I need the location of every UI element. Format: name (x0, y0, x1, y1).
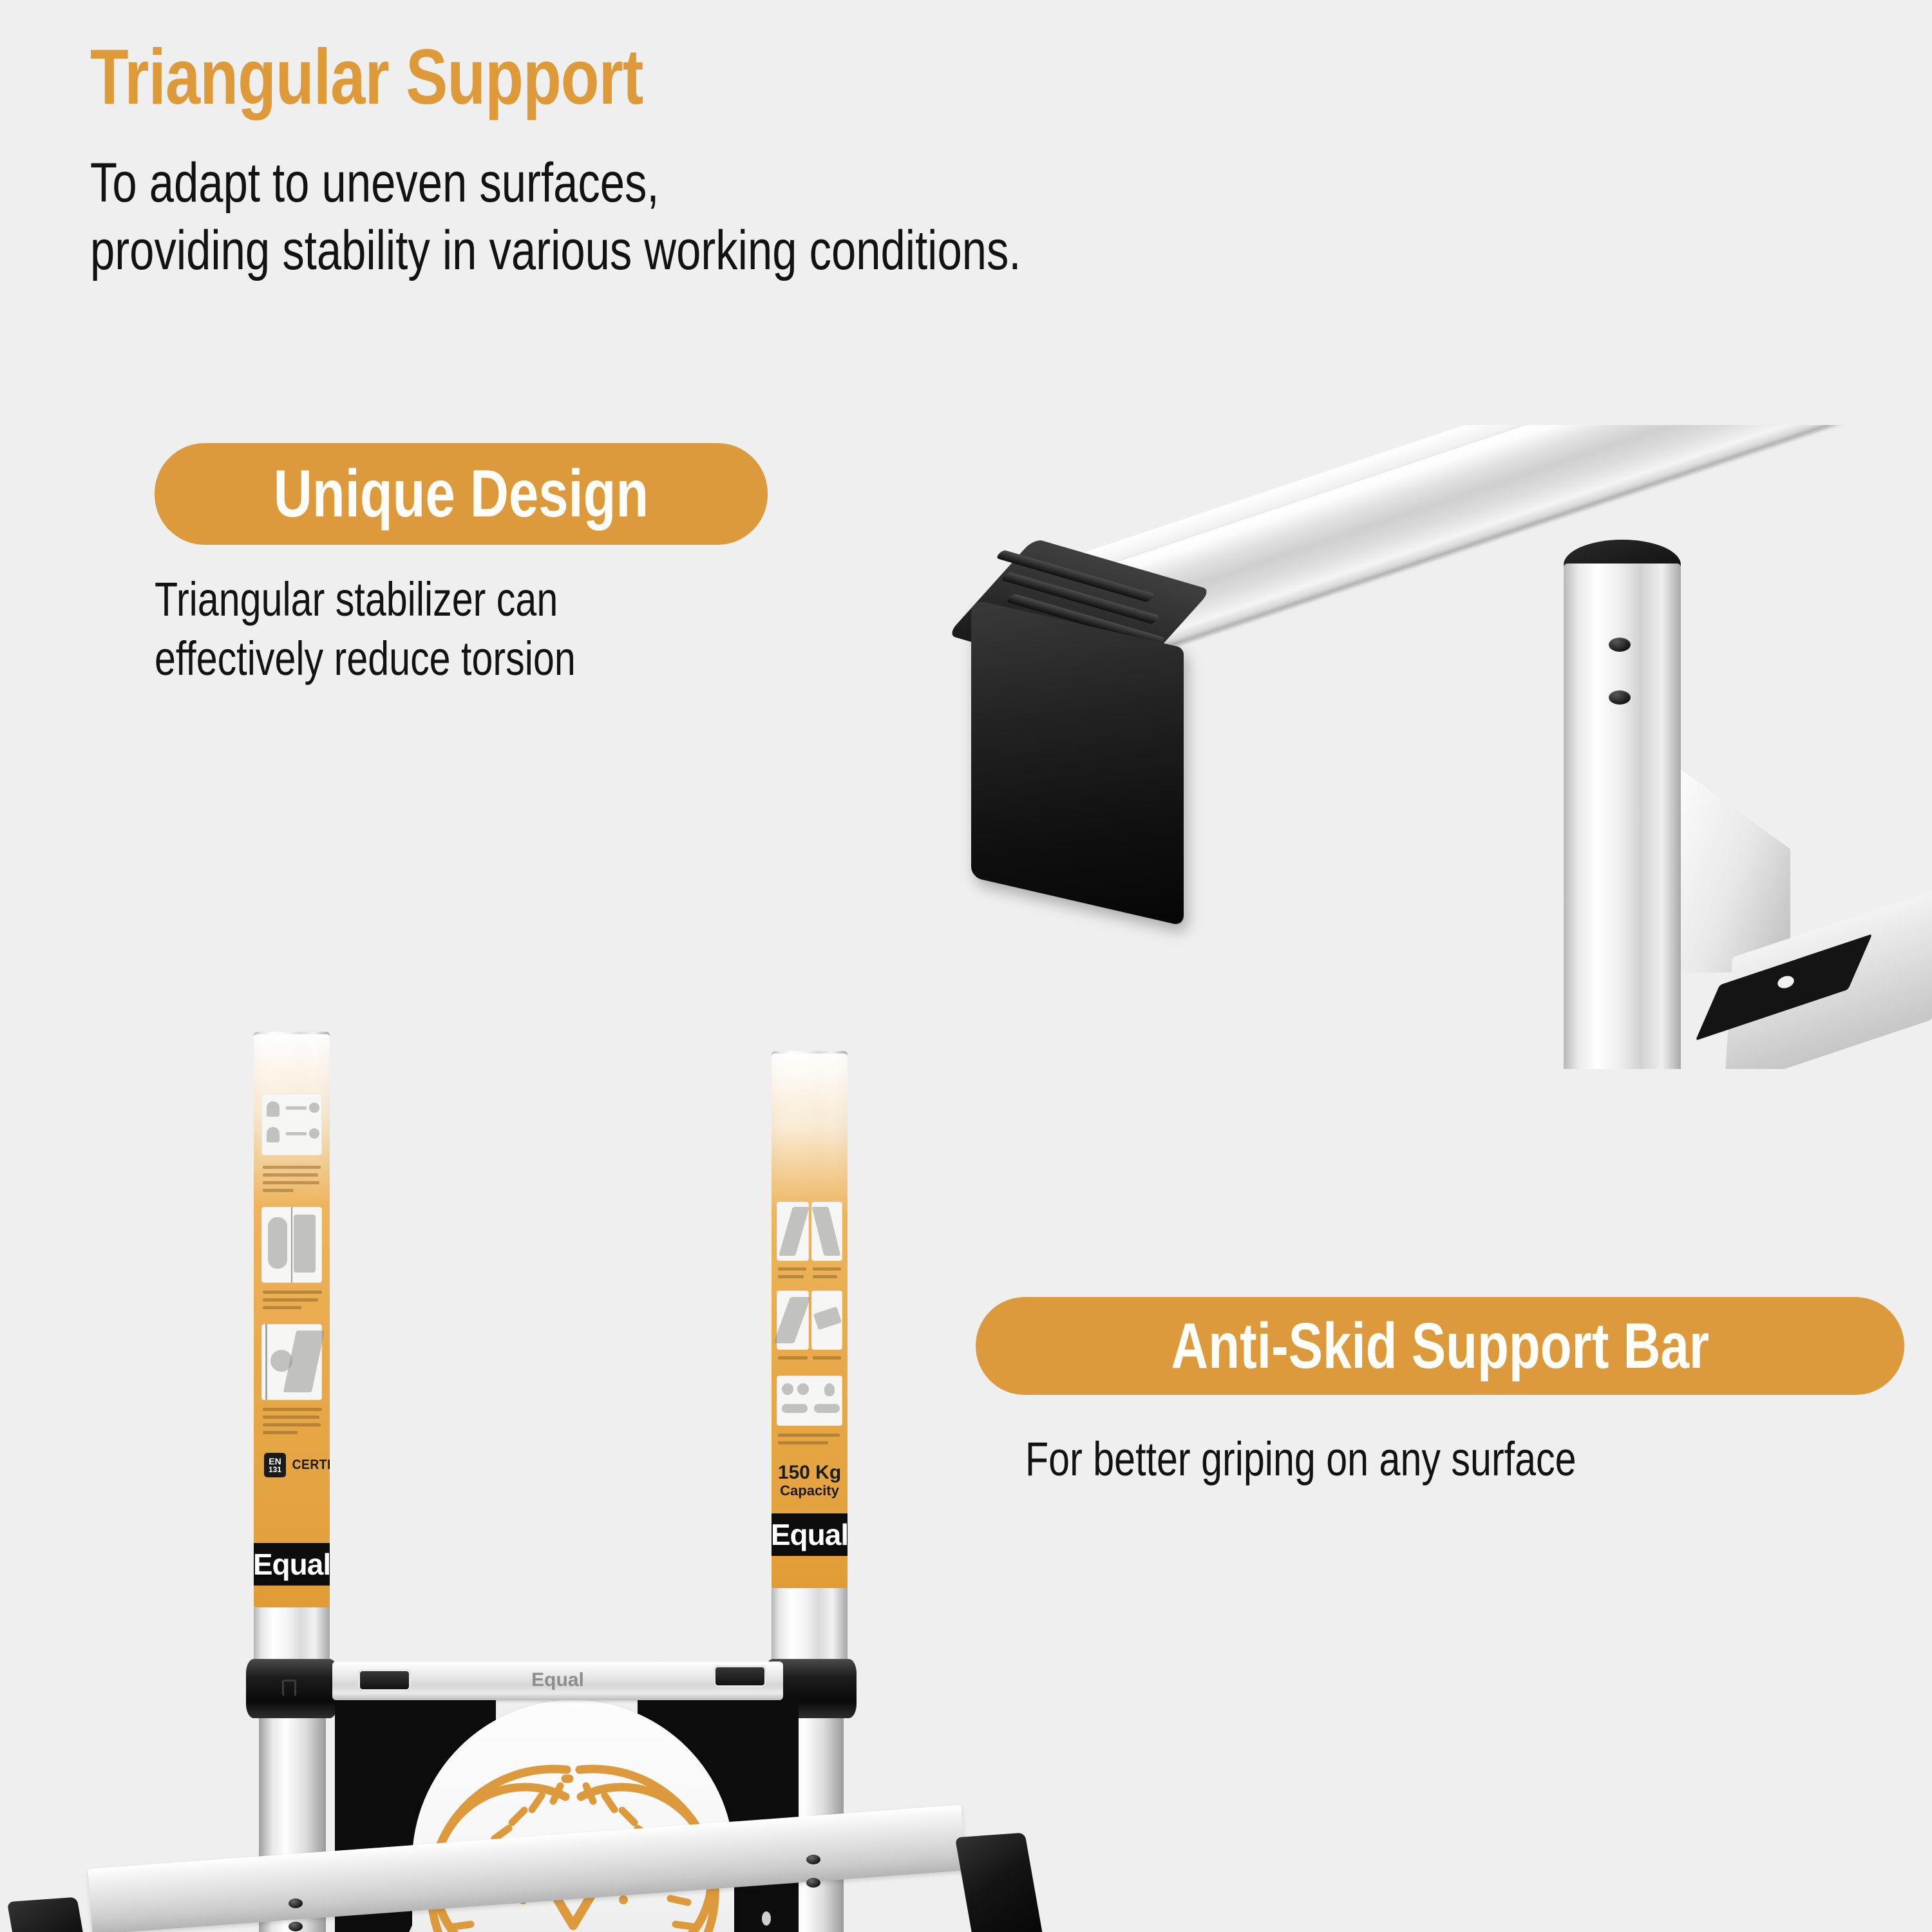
page-subtitle: To adapt to uneven surfaces, providing s… (90, 149, 1021, 285)
infographic-canvas: Triangular Support To adapt to uneven su… (0, 0, 1932, 1932)
brand-label-right: Equal (771, 1517, 848, 1552)
leg-screw-right-upper (806, 1855, 820, 1864)
brand-band-left-leg: Equal (254, 1543, 330, 1586)
load-capacity-block: 150 Kg Capacity (772, 1463, 848, 1498)
leg-screw-left-lower (289, 1922, 303, 1931)
page-subtitle-line-2: providing stability in various working c… (90, 217, 1021, 285)
leg-screw-right-lower (806, 1878, 820, 1888)
lock-pictogram-panel (261, 1094, 322, 1155)
page-subtitle-line-1: To adapt to uneven surfaces, (90, 149, 1021, 217)
rubber-foot-cap-icon (971, 599, 1184, 926)
caption-unique-design-line-1: Triangular stabilizer can (155, 570, 576, 629)
certified-label: CERTIFIED (292, 1457, 330, 1473)
product-photo-triangular-stabilizer: EN 131 CERTIFIED Equal (0, 1018, 1108, 1932)
anti-skid-end-cap-left (7, 1897, 99, 1932)
ladder-carry-pictogram-2 (811, 1291, 842, 1350)
climber-pictogram-panel (261, 1207, 322, 1283)
leg-collar-left (246, 1659, 337, 1718)
ladder-angle-pictogram-1 (777, 1202, 809, 1261)
ladder-angle-pictogram-2 (811, 1202, 842, 1261)
page-title: Triangular Support (90, 37, 643, 116)
anti-skid-end-cap-right (955, 1833, 1046, 1932)
leg-rivet-lower-icon (1609, 690, 1631, 705)
ladder-carry-pictogram-1 (777, 1291, 809, 1350)
warning-label-left-leg: EN 131 CERTIFIED (254, 1034, 330, 1607)
ladder-use-pictogram-panel (261, 1324, 322, 1400)
capacity-word: Capacity (772, 1483, 848, 1498)
en131-mark-icon: EN 131 (264, 1453, 286, 1477)
cross-bar-brand-label: Equal (332, 1669, 783, 1691)
badge-anti-skid-support-bar: Anti-Skid Support Bar (976, 1297, 1904, 1395)
caption-anti-skid-line-1: For better griping on any surface (1025, 1430, 1577, 1489)
badge-unique-design-label: Unique Design (274, 456, 649, 533)
caption-unique-design: Triangular stabilizer can effectively re… (155, 570, 576, 688)
leg-screw-left-upper (289, 1899, 303, 1908)
leg-web-panel (1668, 760, 1790, 972)
en131-certified-badge: EN 131 CERTIFIED (264, 1453, 330, 1477)
collar-notch-icon (282, 1680, 296, 1696)
warning-label-right-leg: 150 Kg Capacity (772, 1054, 848, 1588)
caption-unique-design-line-2: effectively reduce torsion (155, 629, 576, 688)
footwear-pictogram-panel (777, 1376, 842, 1426)
caption-anti-skid-support-bar: For better griping on any surface (1025, 1430, 1577, 1489)
stabilizer-wing-hole (762, 1911, 771, 1926)
brand-band-right-leg: Equal (772, 1513, 848, 1556)
brand-label-left: Equal (253, 1547, 330, 1582)
leg-rivet-upper-icon (1609, 638, 1631, 652)
capacity-value: 150 Kg (772, 1463, 848, 1483)
badge-unique-design: Unique Design (155, 443, 768, 545)
badge-anti-skid-support-bar-label: Anti-Skid Support Bar (1171, 1309, 1709, 1383)
hero-photo-anti-skid-cap (934, 425, 1932, 1069)
